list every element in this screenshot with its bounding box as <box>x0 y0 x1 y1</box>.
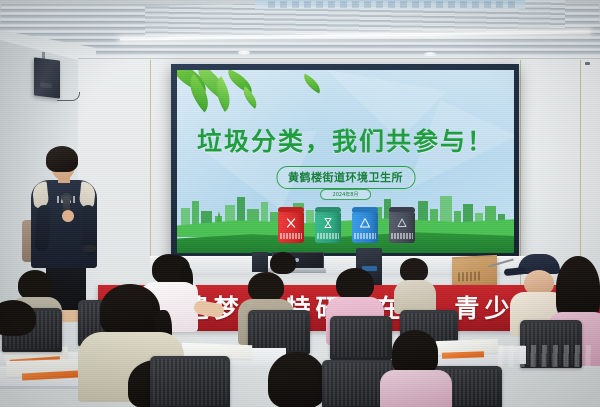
bin-body <box>315 212 341 243</box>
shirt <box>380 370 452 407</box>
shirt <box>394 280 436 314</box>
presenter-wristwatch <box>83 245 96 252</box>
wall-panel-seam-2 <box>520 60 521 286</box>
bin-hazardous <box>278 207 304 243</box>
leaf-icon-7 <box>300 73 325 93</box>
cardboard-box-label <box>458 271 480 281</box>
hair <box>336 268 374 300</box>
wall-panel-seam-1 <box>150 60 151 256</box>
bin-body <box>352 212 378 243</box>
other-waste-icon <box>396 217 408 229</box>
hair <box>270 252 296 274</box>
av-equipment-box <box>252 252 268 272</box>
hair <box>556 256 600 320</box>
chair-mesh <box>251 313 307 351</box>
kitchen-waste-icon <box>322 217 334 229</box>
bin-label <box>391 233 413 239</box>
hazardous-icon <box>285 217 297 229</box>
display-screen-bezel: 垃圾分类，我们共参与！ 黄鹤楼街道环境卫生所 2024年8月 <box>171 64 519 261</box>
slide-title: 垃圾分类，我们共参与！ <box>177 122 514 158</box>
building <box>181 208 190 225</box>
chair-mesh <box>153 359 227 405</box>
presenter-hair <box>46 146 78 172</box>
classroom-photo: 垃圾分类，我们共参与！ 黄鹤楼街道环境卫生所 2024年8月 <box>0 0 600 407</box>
bin-body <box>278 212 304 243</box>
hair <box>268 352 326 407</box>
bin-label <box>280 233 302 239</box>
bin-label <box>354 233 376 239</box>
building <box>440 196 452 225</box>
hair <box>100 284 160 336</box>
hair <box>392 330 438 374</box>
hair <box>18 270 52 300</box>
chair-mesh <box>333 319 389 357</box>
chair-front <box>150 356 230 407</box>
bin-other-waste <box>389 207 415 243</box>
bin-kitchen-waste <box>315 207 341 243</box>
bin-body <box>389 212 415 243</box>
building <box>192 201 199 225</box>
display-screen: 垃圾分类，我们共参与！ 黄鹤楼街道环境卫生所 2024年8月 <box>177 70 514 253</box>
downlight-3 <box>238 50 250 55</box>
wall-trim-line <box>78 58 600 59</box>
hair <box>400 258 428 282</box>
window-reflection-text <box>268 1 518 8</box>
presenter-hand <box>62 210 74 222</box>
ceiling-sensor <box>585 62 590 65</box>
bin-label <box>317 233 339 239</box>
photo-watermark <box>498 345 594 367</box>
chair <box>330 316 392 360</box>
hair <box>248 272 284 302</box>
wall-panel-seam-3 <box>580 60 581 286</box>
recycle-icon <box>359 217 371 229</box>
bin-recyclable <box>352 207 378 243</box>
trash-bins-group <box>278 199 414 243</box>
